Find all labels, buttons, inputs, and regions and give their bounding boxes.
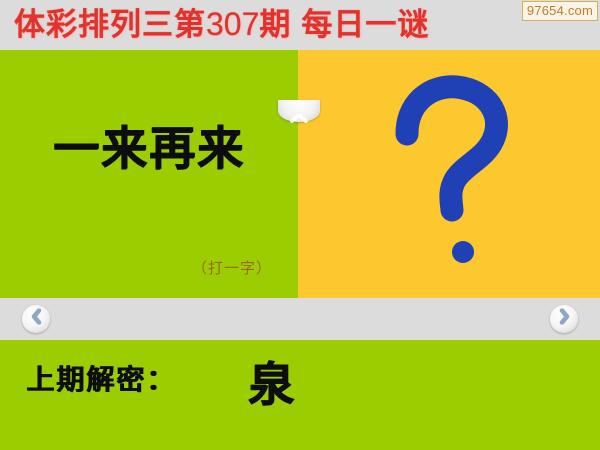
previous-answer-value: 泉 <box>248 348 294 414</box>
watermark: 97654.com <box>522 1 598 21</box>
previous-answer-panel: 上期解密： 泉 <box>0 340 600 450</box>
chevron-up-icon <box>290 110 308 128</box>
riddle-hint: （打一字） <box>192 257 272 278</box>
next-button[interactable] <box>550 305 578 333</box>
title-suffix: 期 <box>259 7 291 42</box>
title-subtitle: 每日一谜 <box>301 7 429 42</box>
riddle-text: 一来再来 <box>0 112 298 178</box>
question-mark-icon <box>359 62 539 287</box>
navigation-strip <box>0 298 600 340</box>
answer-panel[interactable] <box>298 50 600 298</box>
daily-riddle-page: 体彩排列三第307期每日一谜 97654.com 一来再来 （打一字） <box>0 0 600 450</box>
previous-button[interactable] <box>22 305 50 333</box>
riddle-panel: 一来再来 （打一字） <box>0 50 298 298</box>
chevron-right-icon <box>558 309 570 330</box>
chevron-left-icon <box>30 309 42 330</box>
collapse-handle-button[interactable] <box>278 100 320 122</box>
title-prefix: 体彩排列三第 <box>14 7 206 42</box>
page-title: 体彩排列三第307期每日一谜 <box>14 2 534 48</box>
issue-number: 307 <box>206 6 259 42</box>
riddle-panels: 一来再来 （打一字） <box>0 50 600 298</box>
page-header: 体彩排列三第307期每日一谜 97654.com <box>0 0 600 50</box>
previous-answer-label: 上期解密： <box>26 358 176 398</box>
